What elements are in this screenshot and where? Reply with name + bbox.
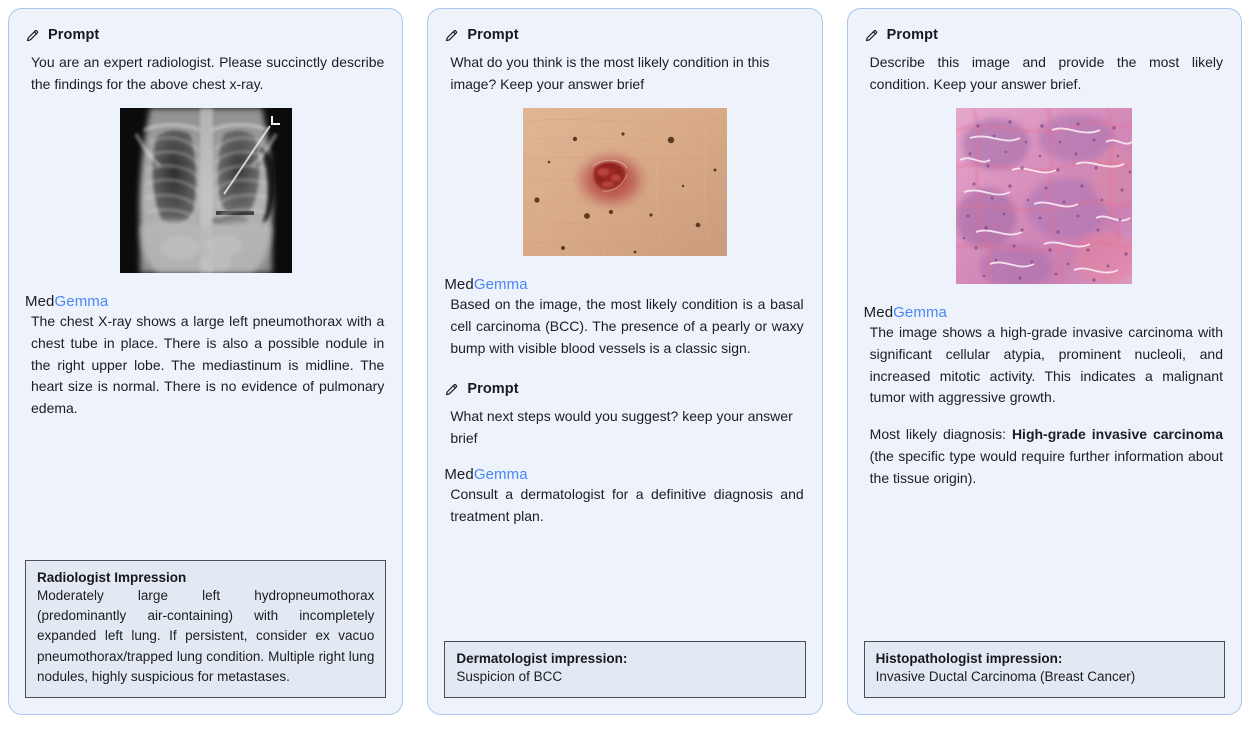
histopathology-slide-wrap bbox=[864, 108, 1225, 284]
medgemma-brand: MedGemma bbox=[25, 293, 386, 310]
prompt-header-2: Prompt bbox=[444, 381, 805, 397]
pencil-icon bbox=[864, 28, 879, 43]
case-card-histopathology: Prompt Describe this image and provide t… bbox=[847, 8, 1242, 715]
flex-spacer bbox=[444, 527, 805, 641]
histopathologist-impression-box: Histopathologist impression: Invasive Du… bbox=[864, 641, 1225, 698]
brand-prefix: Med bbox=[444, 276, 473, 293]
impression-title: Dermatologist impression: bbox=[456, 651, 793, 666]
chest-xray-image-wrap bbox=[25, 108, 386, 273]
prompt-text-2: What next steps would you suggest? keep … bbox=[444, 406, 805, 449]
prompt-header: Prompt bbox=[25, 27, 386, 43]
medgemma-brand: MedGemma bbox=[864, 304, 1225, 321]
prompt-label: Prompt bbox=[467, 27, 518, 43]
brand-prefix: Med bbox=[444, 466, 473, 483]
impression-title: Histopathologist impression: bbox=[876, 651, 1213, 666]
prompt-text: You are an expert radiologist. Please su… bbox=[25, 52, 386, 95]
flex-spacer bbox=[864, 489, 1225, 641]
prompt-text: What do you think is the most likely con… bbox=[444, 52, 805, 95]
histopathology-slide-image bbox=[956, 108, 1132, 284]
model-answer-diagnosis: Most likely diagnosis: High-grade invasi… bbox=[864, 424, 1225, 489]
radiologist-impression-box: Radiologist Impression Moderately large … bbox=[25, 560, 386, 698]
skin-lesion-photo-wrap bbox=[444, 108, 805, 256]
brand-suffix: Gemma bbox=[474, 276, 528, 293]
chest-xray-image bbox=[120, 108, 292, 273]
impression-text: Suspicion of BCC bbox=[456, 667, 793, 687]
model-answer-text: The image shows a high-grade invasive ca… bbox=[864, 322, 1225, 409]
model-answer-text: Based on the image, the most likely cond… bbox=[444, 294, 805, 359]
brand-suffix: Gemma bbox=[893, 304, 947, 321]
brand-prefix: Med bbox=[864, 304, 893, 321]
medgemma-brand: MedGemma bbox=[444, 276, 805, 293]
diagnosis-bold: High-grade invasive carcinoma bbox=[1012, 426, 1223, 442]
prompt-text: Describe this image and provide the most… bbox=[864, 52, 1225, 95]
diagnosis-suffix: (the specific type would require further… bbox=[870, 448, 1223, 486]
pencil-icon bbox=[444, 28, 459, 43]
pencil-icon bbox=[444, 382, 459, 397]
prompt-label-2: Prompt bbox=[467, 381, 518, 397]
comparison-board: Prompt You are an expert radiologist. Pl… bbox=[0, 0, 1250, 740]
impression-text: Invasive Ductal Carcinoma (Breast Cancer… bbox=[876, 667, 1213, 687]
medgemma-brand-2: MedGemma bbox=[444, 466, 805, 483]
dermatologist-impression-box: Dermatologist impression: Suspicion of B… bbox=[444, 641, 805, 698]
flex-spacer bbox=[25, 420, 386, 560]
prompt-header: Prompt bbox=[864, 27, 1225, 43]
model-answer-text: The chest X-ray shows a large left pneum… bbox=[25, 311, 386, 419]
impression-title: Radiologist Impression bbox=[37, 570, 374, 585]
impression-text: Moderately large left hydropneumothorax … bbox=[37, 586, 374, 687]
diagnosis-prefix: Most likely diagnosis: bbox=[870, 426, 1012, 442]
pencil-icon bbox=[25, 28, 40, 43]
prompt-label: Prompt bbox=[48, 27, 99, 43]
brand-prefix: Med bbox=[25, 293, 54, 310]
case-card-radiology: Prompt You are an expert radiologist. Pl… bbox=[8, 8, 403, 715]
prompt-label: Prompt bbox=[887, 27, 938, 43]
case-card-dermatology: Prompt What do you think is the most lik… bbox=[427, 8, 822, 715]
brand-suffix: Gemma bbox=[54, 293, 108, 310]
prompt-header: Prompt bbox=[444, 27, 805, 43]
brand-suffix: Gemma bbox=[474, 466, 528, 483]
model-answer-text-2: Consult a dermatologist for a definitive… bbox=[444, 484, 805, 527]
skin-lesion-photo bbox=[523, 108, 727, 256]
